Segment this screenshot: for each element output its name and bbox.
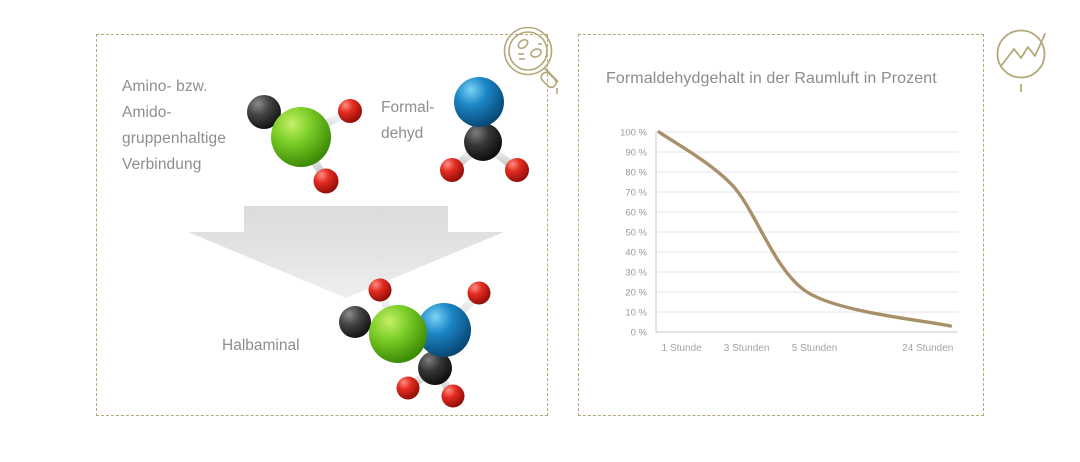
chart-y-tick-label: 20 % <box>625 287 647 298</box>
magnifier-molecule-icon <box>498 22 572 96</box>
amine-compound-molecule <box>238 82 372 198</box>
chart-y-tick-label: 60 % <box>625 207 647 218</box>
chart-data-line <box>659 132 950 326</box>
chart-title: Formaldehydgehalt in der Raumluft in Pro… <box>606 70 937 88</box>
chart-y-tick-label: 40 % <box>625 247 647 258</box>
chart-y-tick-label: 10 % <box>625 307 647 318</box>
chart-x-tick-label: 3 Stunden <box>724 343 770 354</box>
chart-y-tick-label: 80 % <box>625 167 647 178</box>
chart-y-tick-label: 90 % <box>625 147 647 158</box>
formaldehyde-chart: Formaldehydgehalt in der Raumluft in Pro… <box>592 56 976 386</box>
chart-gridlines <box>656 132 958 332</box>
chart-y-tick-label: 50 % <box>625 227 647 238</box>
chart-y-tick-label: 30 % <box>625 267 647 278</box>
chart-x-tick-label: 24 Stunden <box>902 343 953 354</box>
halbaminal-molecule <box>322 268 516 412</box>
chart-y-tick-label: 70 % <box>625 187 647 198</box>
chart-x-axis-labels: 1 Stunde3 Stunden5 Stunden24 Stunden <box>662 343 954 354</box>
chart-x-tick-label: 5 Stunden <box>792 343 838 354</box>
trend-chart-circle-icon <box>988 22 1060 94</box>
chart-x-tick-label: 1 Stunde <box>662 343 702 354</box>
chart-y-tick-label: 100 % <box>620 127 647 138</box>
halbaminal-label: Halbaminal <box>222 337 300 355</box>
chart-plot-area: 100 %90 %80 %70 %60 %50 %40 %30 %20 %10 … <box>600 118 968 368</box>
chart-y-axis-labels: 100 %90 %80 %70 %60 %50 %40 %30 %20 %10 … <box>620 127 647 338</box>
chart-y-tick-label: 0 % <box>631 327 648 338</box>
